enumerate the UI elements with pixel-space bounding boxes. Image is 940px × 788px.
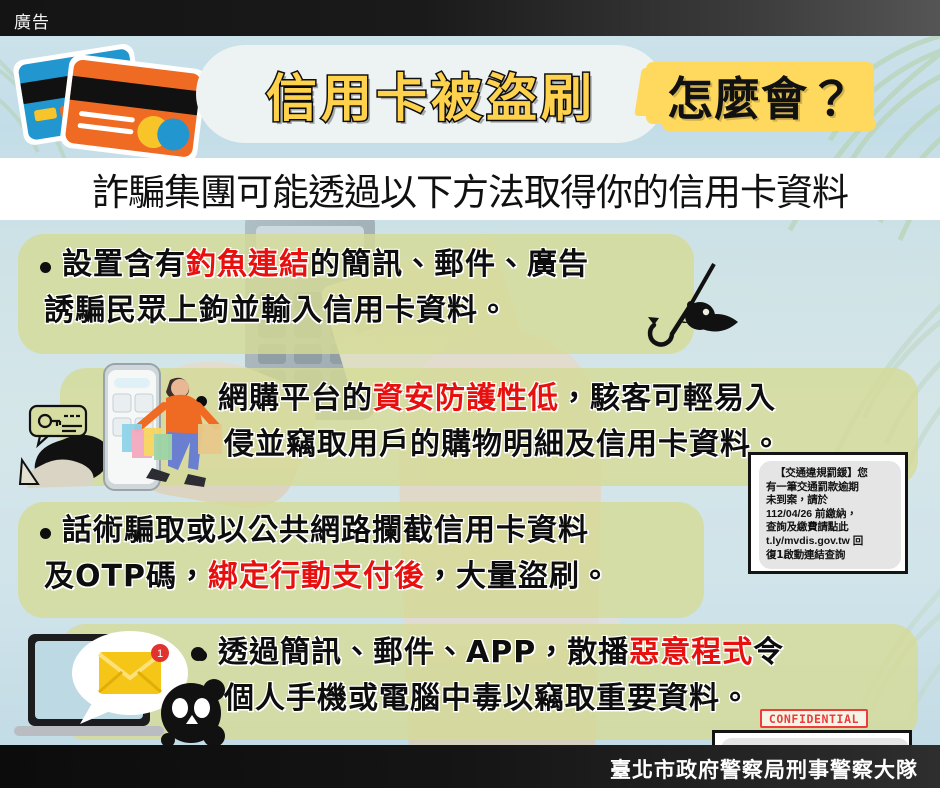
row-line-1-highlight: 資安防護性低	[373, 381, 559, 416]
subtitle-text: 詐騙集團可能透過以下方法取得你的信用卡資料	[92, 162, 848, 216]
row-line-2-highlight: 綁定行動支付後	[208, 559, 425, 594]
content-rows: 設置含有釣魚連結的簡訊、郵件、廣告 誘騙民眾上鉤並輸入信用卡資料。 【交通違規罰…	[0, 220, 940, 748]
header: 信用卡被盜刷 怎麼會？	[0, 36, 940, 158]
row-line-1: 網購平台的資安防護性低，駭客可輕易入	[218, 376, 776, 422]
row-line-2-a: 侵並竊取用戶的購物明細及信用卡資料。	[224, 427, 782, 462]
row-line-1-highlight: 釣魚連結	[186, 247, 310, 282]
sms-line-5: 查詢及繳費請點此	[766, 521, 894, 535]
row-line-1-b: 令	[753, 635, 784, 670]
page-title: 信用卡被盜刷	[196, 45, 666, 143]
credit-cards-icon	[8, 40, 218, 158]
bullet-point	[40, 528, 51, 539]
sms-line-1: 【交通違規罰鍰】您	[766, 467, 894, 481]
ad-bar: 廣告	[0, 0, 940, 36]
row-line-1-a: 網購平台的	[218, 381, 373, 416]
sms-line-2: 有一筆交通罰款逾期	[766, 481, 894, 495]
row-line-2-a: 誘騙民眾上鉤並輸入信用卡資料。	[44, 293, 509, 328]
sms-line-3: 未到案，請於	[766, 494, 894, 508]
sms-bubble-text: 【交通違規罰鍰】您 有一筆交通罰款逾期 未到案，請於 112/04/26 前繳納…	[759, 461, 901, 569]
confidential-stamp: CONFIDENTIAL	[760, 709, 868, 728]
row-line-1-a: 透過簡訊、郵件、APP，散播	[218, 635, 629, 670]
bullet-point	[40, 262, 51, 273]
subtitle-band: 詐騙集團可能透過以下方法取得你的信用卡資料	[0, 158, 940, 220]
row-line-1: 話術騙取或以公共網路攔截信用卡資料	[62, 508, 589, 554]
question-text: 怎麼會？	[636, 50, 886, 142]
row-line-2-a: 個人手機或電腦中毒以竊取重要資料。	[224, 681, 751, 716]
row-line-1-b: 的簡訊、郵件、廣告	[310, 247, 589, 282]
laptop-mail-skull-icon: 1	[2, 616, 227, 746]
row-line-1-a: 設置含有	[62, 247, 186, 282]
sms-line-4: 112/04/26 前繳納，	[766, 508, 894, 522]
row-line-1-a: 話術騙取或以公共網路攔截信用卡資料	[62, 513, 589, 548]
footer-bar: 臺北市政府警察局刑事警察大隊	[0, 745, 940, 788]
row-line-2-a: 及OTP碼，	[44, 559, 208, 594]
row-line-1: 設置含有釣魚連結的簡訊、郵件、廣告	[62, 242, 589, 288]
poster-root: 廣告 信用卡被盜刷 怎麼會？	[0, 0, 940, 788]
question-badge: 怎麼會？	[636, 50, 886, 142]
svg-text:1: 1	[157, 648, 163, 660]
phone-shopping-icon	[0, 362, 225, 492]
sms-line-6[interactable]: t.ly/mvdis.gov.tw 回	[766, 535, 894, 549]
row-line-2: 誘騙民眾上鉤並輸入信用卡資料。	[44, 288, 509, 334]
ad-label: 廣告	[14, 8, 50, 33]
sms-line-7: 復1啟動連結查詢	[766, 549, 894, 563]
row-line-2: 及OTP碼，綁定行動支付後，大量盜刷。	[44, 554, 611, 600]
row-line-1-highlight: 惡意程式	[629, 635, 753, 670]
row-line-2: 個人手機或電腦中毒以竊取重要資料。	[224, 676, 751, 722]
sms-screenshot-traffic-fine: 【交通違規罰鍰】您 有一筆交通罰款逾期 未到案，請於 112/04/26 前繳納…	[748, 452, 908, 574]
row-line-2-b: ，大量盜刷。	[425, 559, 611, 594]
organization-name: 臺北市政府警察局刑事警察大隊	[610, 754, 918, 784]
row-line-1: 透過簡訊、郵件、APP，散播惡意程式令	[218, 630, 784, 676]
fish-hook-icon	[628, 260, 740, 350]
row-line-2: 侵並竊取用戶的購物明細及信用卡資料。	[224, 422, 782, 468]
row-line-1-b: ，駭客可輕易入	[559, 381, 776, 416]
